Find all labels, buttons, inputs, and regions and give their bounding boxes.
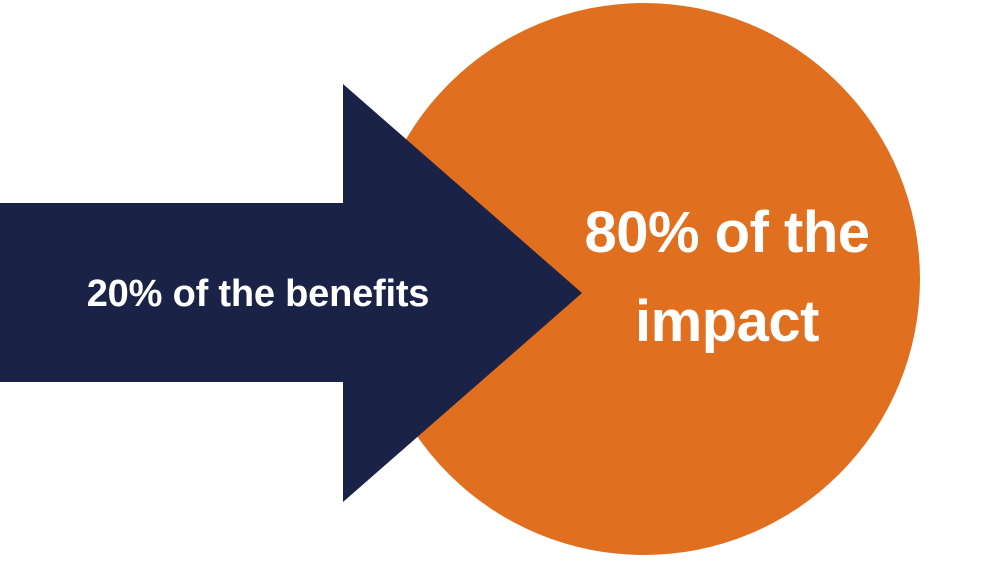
circle-label-line-2: impact <box>635 289 819 354</box>
circle-label-line-1: 80% of the <box>584 200 869 265</box>
diagram-canvas: 20% of the benefits 80% of the impact <box>0 0 1000 563</box>
arrow-label: 20% of the benefits <box>87 273 430 315</box>
pareto-diagram: 20% of the benefits 80% of the impact <box>0 0 1000 563</box>
